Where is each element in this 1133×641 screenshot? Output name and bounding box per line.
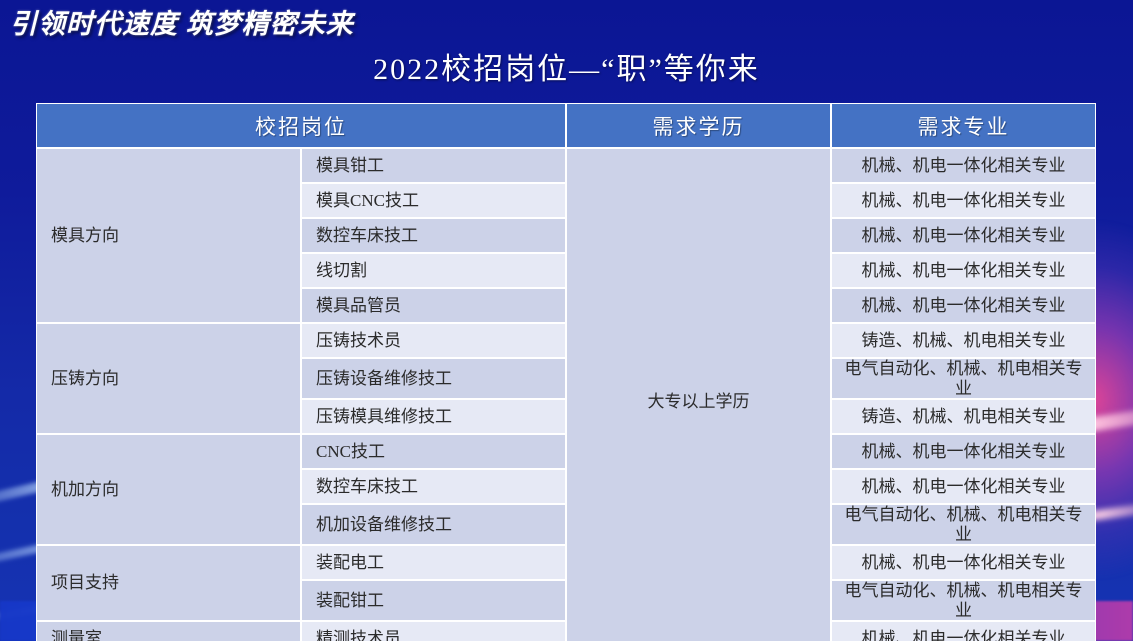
cell-major-requirement: 电气自动化、机械、机电相关专业 — [831, 504, 1096, 545]
cell-major-requirement: 机械、机电一体化相关专业 — [831, 148, 1096, 183]
cell-job-title: 模具品管员 — [301, 288, 566, 323]
cell-job-title: 模具CNC技工 — [301, 183, 566, 218]
cell-major-requirement: 铸造、机械、机电相关专业 — [831, 323, 1096, 358]
cell-major-requirement: 机械、机电一体化相关专业 — [831, 253, 1096, 288]
cell-job-title: 机加设备维修技工 — [301, 504, 566, 545]
jobs-table-container: 校招岗位 需求学历 需求专业 模具方向模具钳工大专以上学历机械、机电一体化相关专… — [36, 103, 1096, 641]
cell-group-name: 压铸方向 — [36, 323, 301, 434]
cell-job-title: 数控车床技工 — [301, 218, 566, 253]
table-row: 模具方向模具钳工大专以上学历机械、机电一体化相关专业 — [36, 148, 1096, 183]
cell-major-requirement: 机械、机电一体化相关专业 — [831, 621, 1096, 641]
cell-job-title: 压铸模具维修技工 — [301, 399, 566, 434]
cell-group-name: 测量室 — [36, 621, 301, 641]
cell-major-requirement: 机械、机电一体化相关专业 — [831, 545, 1096, 580]
cell-job-title: 装配电工 — [301, 545, 566, 580]
cell-group-name: 项目支持 — [36, 545, 301, 621]
cell-major-requirement: 电气自动化、机械、机电相关专业 — [831, 580, 1096, 621]
cell-job-title: 压铸技术员 — [301, 323, 566, 358]
cell-major-requirement: 机械、机电一体化相关专业 — [831, 288, 1096, 323]
cell-major-requirement: 机械、机电一体化相关专业 — [831, 434, 1096, 469]
table-head: 校招岗位 需求学历 需求专业 — [36, 103, 1096, 148]
cell-job-title: 线切割 — [301, 253, 566, 288]
cell-major-requirement: 铸造、机械、机电相关专业 — [831, 399, 1096, 434]
cell-major-requirement: 机械、机电一体化相关专业 — [831, 469, 1096, 504]
table-header-row: 校招岗位 需求学历 需求专业 — [36, 103, 1096, 148]
table-body: 模具方向模具钳工大专以上学历机械、机电一体化相关专业模具CNC技工机械、机电一体… — [36, 148, 1096, 641]
page-title: 2022校招岗位—“职”等你来 — [0, 44, 1133, 88]
slide-root: 引领时代速度 筑梦精密未来 2022校招岗位—“职”等你来 校招岗位 需求学历 … — [0, 0, 1133, 641]
col-header-major: 需求专业 — [831, 103, 1096, 148]
cell-job-title: 装配钳工 — [301, 580, 566, 621]
cell-job-title: 精测技术员 — [301, 621, 566, 641]
cell-job-title: 模具钳工 — [301, 148, 566, 183]
cell-major-requirement: 机械、机电一体化相关专业 — [831, 218, 1096, 253]
cell-major-requirement: 电气自动化、机械、机电相关专业 — [831, 358, 1096, 399]
jobs-table: 校招岗位 需求学历 需求专业 模具方向模具钳工大专以上学历机械、机电一体化相关专… — [36, 103, 1096, 641]
col-header-position: 校招岗位 — [36, 103, 566, 148]
cell-major-requirement: 机械、机电一体化相关专业 — [831, 183, 1096, 218]
cell-group-name: 模具方向 — [36, 148, 301, 323]
cell-job-title: CNC技工 — [301, 434, 566, 469]
cell-group-name: 机加方向 — [36, 434, 301, 545]
cell-education-requirement: 大专以上学历 — [566, 148, 831, 641]
cell-job-title: 压铸设备维修技工 — [301, 358, 566, 399]
cell-job-title: 数控车床技工 — [301, 469, 566, 504]
slogan-text: 引领时代速度 筑梦精密未来 — [10, 2, 354, 41]
col-header-education: 需求学历 — [566, 103, 831, 148]
